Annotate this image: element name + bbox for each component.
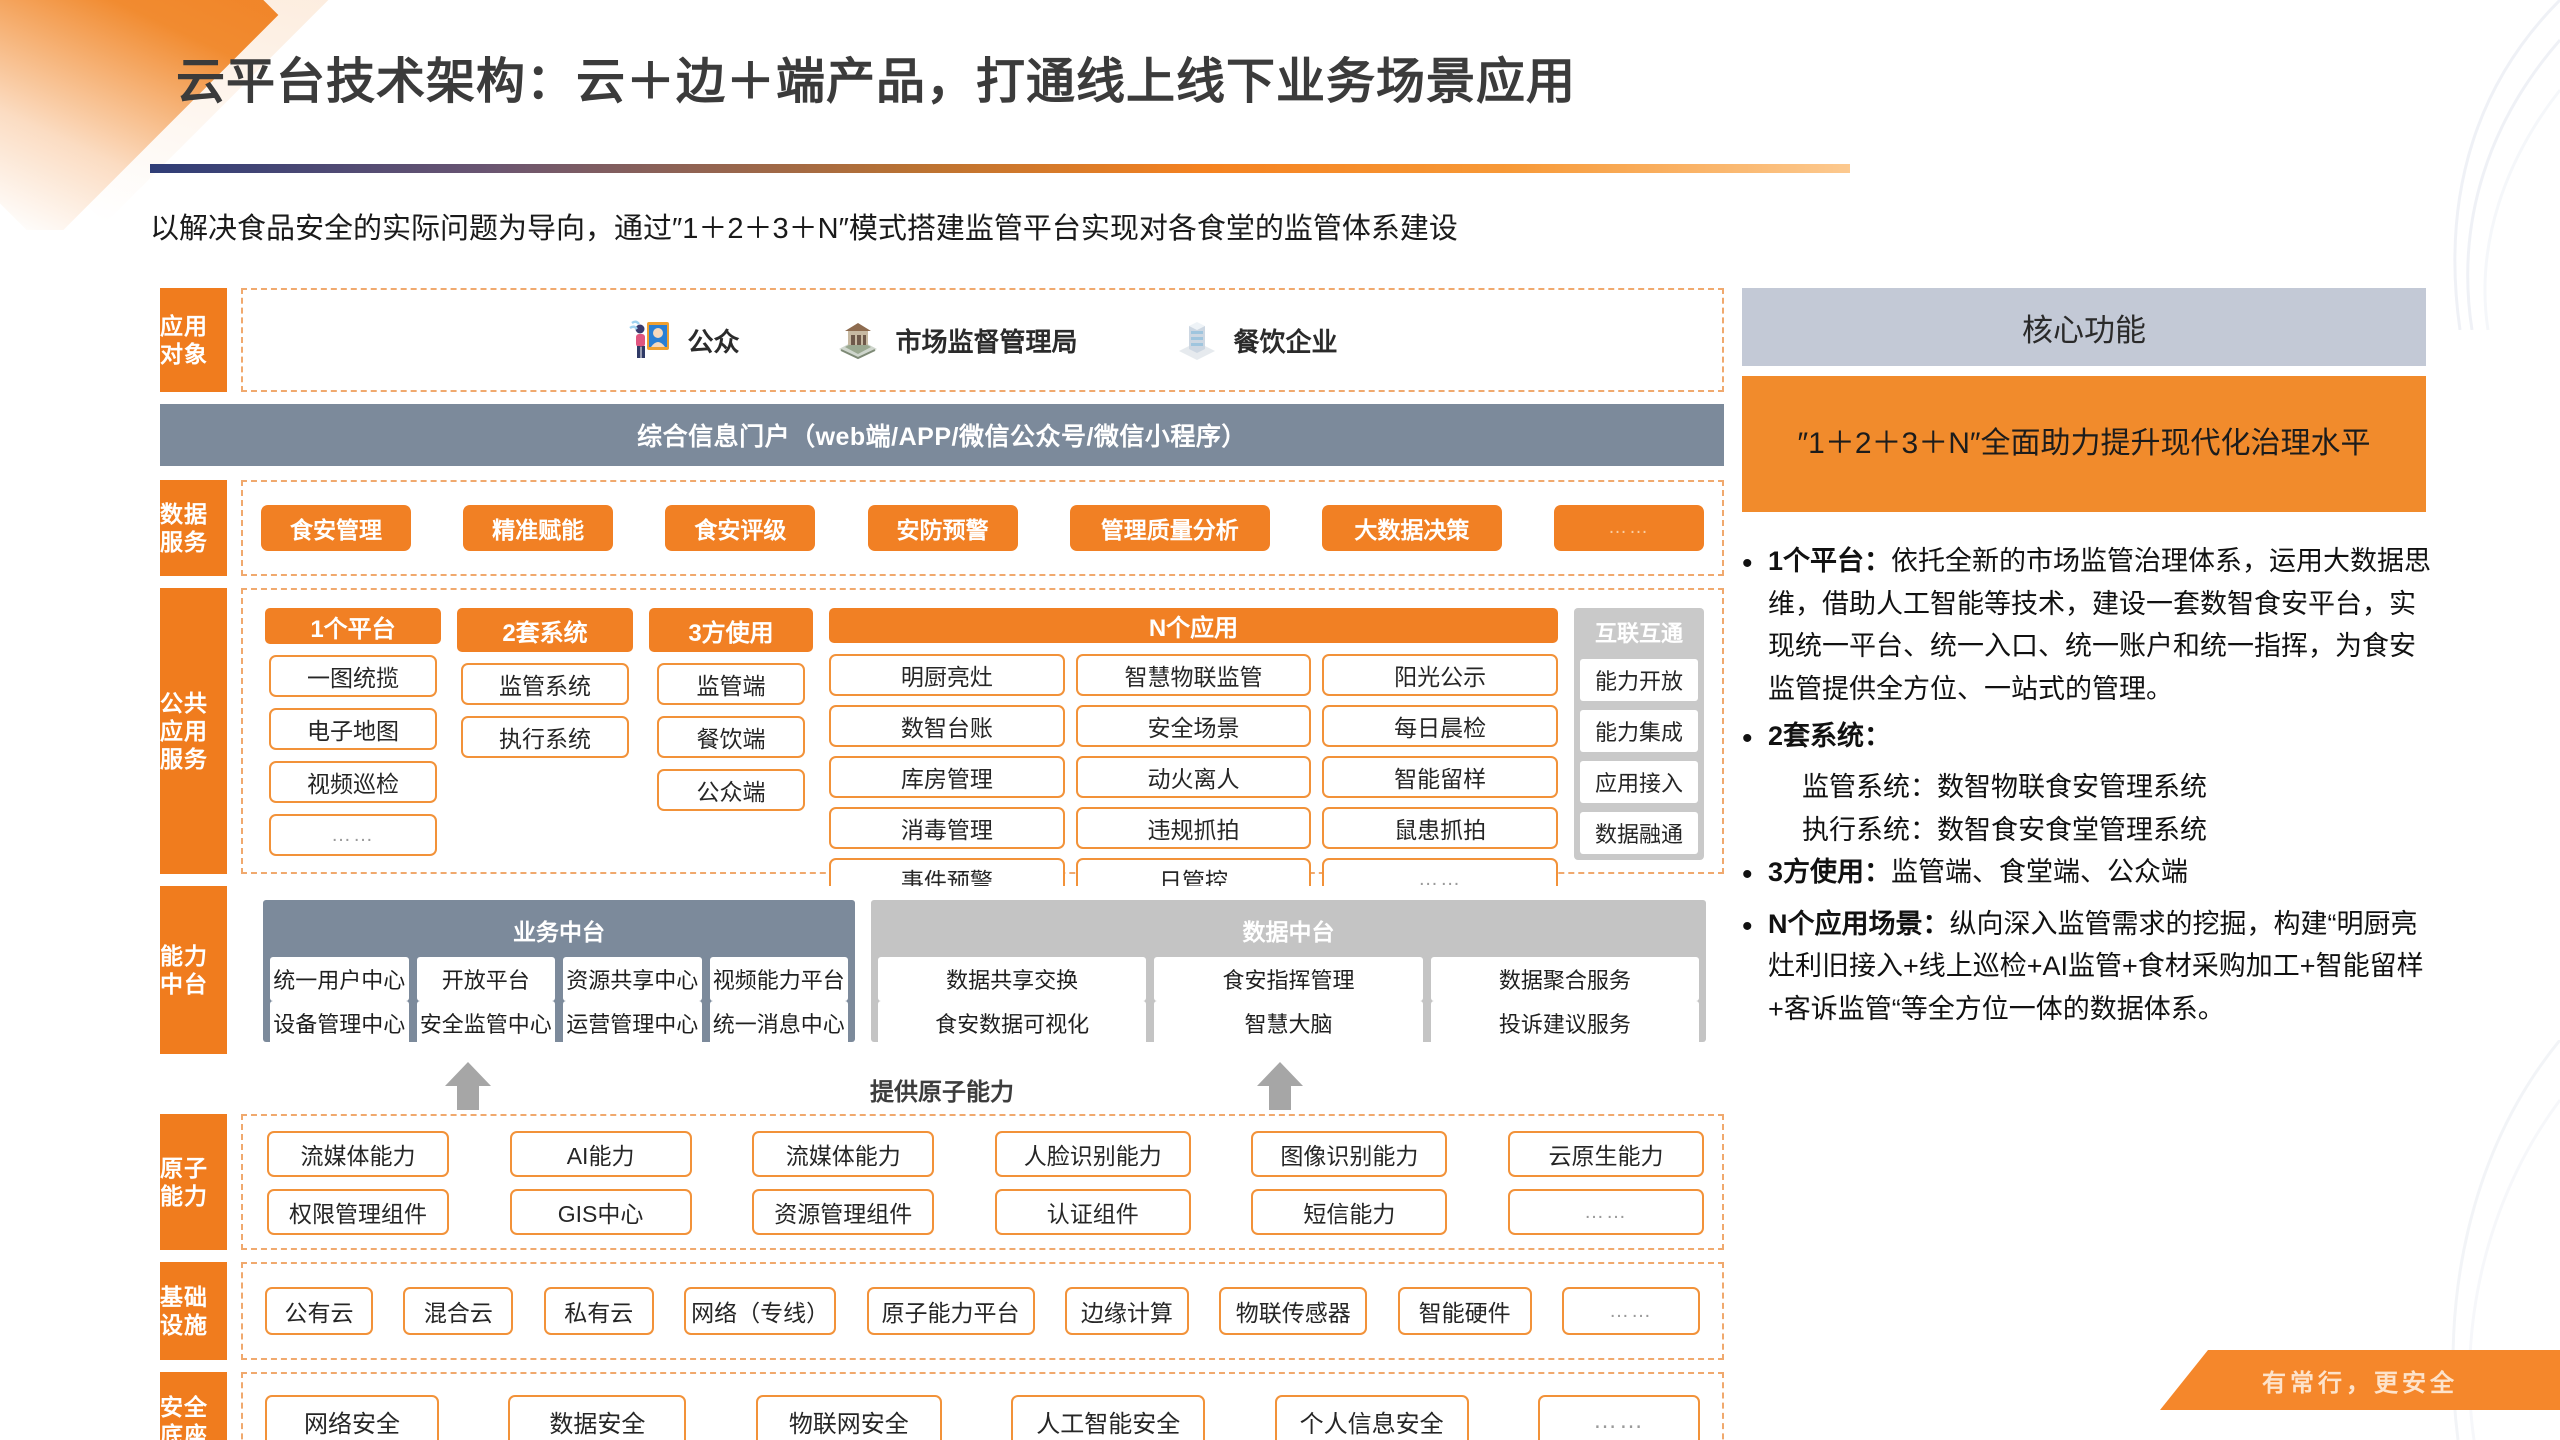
layer-security-base: 安全底座 网络安全数据安全物联网安全人工智能安全个人信息安全…… — [160, 1372, 1724, 1440]
spacer — [1191, 1131, 1252, 1177]
bullet-dot: • — [1742, 903, 1768, 1031]
capability-cell[interactable]: 运营管理中心 — [563, 1001, 702, 1045]
core-functions-banner: ″1＋2＋3＋N″全面助力提升现代化治理水平 — [1742, 376, 2426, 512]
n-app-item[interactable]: 明厨亮灶 — [829, 654, 1065, 696]
n-apps-grid: 明厨亮灶智慧物联监管阳光公示数智台账安全场景每日晨检库房管理动火离人智能留样消毒… — [829, 654, 1558, 900]
interlink-panel: 互联互通 能力开放能力集成应用接入数据融通 — [1574, 608, 1704, 860]
spacer — [1447, 1189, 1508, 1235]
layer-tag-application-objects: 应用对象 — [160, 288, 227, 392]
infrastructure-chip[interactable]: 网络（专线） — [684, 1287, 836, 1335]
pas-item[interactable]: 执行系统 — [461, 716, 629, 758]
page-subtitle: 以解决食品安全的实际问题为导向，通过″1＋2＋3＋N″模式搭建监管平台实现对各食… — [150, 205, 1458, 247]
n-app-item[interactable]: 每日晨检 — [1322, 705, 1558, 747]
spacer — [1447, 1131, 1508, 1177]
app-object-label: 市场监督管理局 — [895, 322, 1077, 359]
security-chip[interactable]: 物联网安全 — [756, 1395, 942, 1440]
data-services-row: 食安管理精准赋能食安评级安防预警管理质量分析大数据决策…… — [243, 482, 1722, 574]
capability-cell[interactable]: 投诉建议服务 — [1431, 1001, 1699, 1045]
atomic-capability-chip[interactable]: 资源管理组件 — [752, 1189, 934, 1235]
block-title: 业务中台 — [270, 907, 848, 957]
bullet-text: 1个平台：依托全新的市场监管治理体系，运用大数据思维，借助人工智能等技术，建设一… — [1768, 540, 2442, 711]
spacer — [1191, 1189, 1252, 1235]
core-function-subline: 监管系统：数智物联食安管理系统 — [1742, 766, 2442, 809]
infrastructure-chip[interactable]: 智能硬件 — [1398, 1287, 1532, 1335]
spacer — [449, 1189, 510, 1235]
data-service-chip[interactable]: 精准赋能 — [463, 505, 613, 551]
atomic-capability-content: 流媒体能力AI能力流媒体能力人脸识别能力图像识别能力云原生能力 权限管理组件GI… — [267, 1132, 1704, 1234]
bullet-text: 3方使用：监管端、食堂端、公众端 — [1768, 851, 2188, 898]
bullet-dot: • — [1742, 851, 1768, 898]
provide-atomic-capability-band: 提供原子能力 — [160, 1058, 1724, 1112]
n-app-item[interactable]: 智能留样 — [1322, 756, 1558, 798]
spacer — [934, 1131, 995, 1177]
pas-column-systems: 2套系统 监管系统执行系统 — [457, 608, 633, 856]
capability-cell[interactable]: 统一用户中心 — [270, 957, 409, 1001]
pas-column-users: 3方使用 监管端餐饮端公众端 — [649, 608, 813, 856]
provide-atomic-capability-label: 提供原子能力 — [160, 1072, 1724, 1107]
layer-data-services: 数据服务 食安管理精准赋能食安评级安防预警管理质量分析大数据决策…… — [160, 480, 1724, 576]
block-title: 数据中台 — [878, 907, 1699, 957]
pas-column-n-apps: N个应用 明厨亮灶智慧物联监管阳光公示数智台账安全场景每日晨检库房管理动火离人智… — [829, 608, 1558, 856]
app-object-market-bureau[interactable]: 市场监督管理局 — [835, 317, 1077, 363]
block-row: 食安数据可视化智慧大脑投诉建议服务 — [878, 1001, 1699, 1045]
bullet-strong: 1个平台： — [1768, 546, 1891, 576]
n-app-item[interactable]: 阳光公示 — [1322, 654, 1558, 696]
atomic-capability-chip[interactable]: 图像识别能力 — [1251, 1131, 1447, 1177]
layer-public-application-services: 公共应用服务 1个平台 一图统揽电子地图视频巡检…… 2套系统 监管系统执行系统… — [160, 588, 1724, 874]
interlink-item[interactable]: 能力开放 — [1580, 659, 1698, 701]
app-object-catering-enterprise[interactable]: 餐饮企业 — [1174, 317, 1338, 363]
n-app-item[interactable]: 智慧物联监管 — [1076, 654, 1312, 696]
app-object-label: 公众 — [687, 322, 739, 359]
atomic-capability-chip[interactable]: 短信能力 — [1251, 1189, 1447, 1235]
bullet-strong: 3方使用： — [1768, 857, 1891, 887]
security-chip[interactable]: 人工智能安全 — [1011, 1395, 1205, 1440]
pas-item[interactable]: …… — [269, 814, 437, 856]
pas-column-items: 监管系统执行系统 — [457, 663, 633, 758]
infrastructure-chip[interactable]: 私有云 — [544, 1287, 654, 1335]
corner-decoration — [0, 0, 330, 230]
pas-item[interactable]: 电子地图 — [269, 708, 437, 750]
data-middle-platform: 数据中台 数据共享交换食安指挥管理数据聚合服务 食安数据可视化智慧大脑投诉建议服… — [871, 900, 1706, 1042]
layer-infrastructure: 基础设施 公有云混合云私有云网络（专线）原子能力平台边缘计算物联传感器智能硬件…… — [160, 1262, 1724, 1360]
core-functions-bullets: •1个平台：依托全新的市场监管治理体系，运用大数据思维，借助人工智能等技术，建设… — [1742, 540, 2442, 1031]
capability-platform-content: 业务中台 统一用户中心开放平台资源共享中心视频能力平台 设备管理中心安全监管中心… — [263, 900, 1706, 1042]
pas-column-head: 1个平台 — [265, 608, 441, 644]
portal-bar[interactable]: 综合信息门户（web端/APP/微信公众号/微信小程序） — [160, 404, 1724, 466]
infrastructure-chip[interactable]: 公有云 — [265, 1287, 373, 1335]
core-function-subline: 执行系统：数智食安食堂管理系统 — [1742, 809, 2442, 852]
pas-item[interactable]: 监管端 — [657, 663, 805, 705]
pas-item[interactable]: 餐饮端 — [657, 716, 805, 758]
infrastructure-chip[interactable]: …… — [1562, 1287, 1700, 1335]
data-service-chip[interactable]: …… — [1554, 505, 1704, 551]
spacer — [692, 1189, 753, 1235]
core-functions-panel: 核心功能 ″1＋2＋3＋N″全面助力提升现代化治理水平 •1个平台：依托全新的市… — [1742, 288, 2462, 1035]
capability-cell[interactable]: 统一消息中心 — [710, 1001, 849, 1045]
government-building-icon — [835, 317, 881, 363]
layer-tag-data-services: 数据服务 — [160, 480, 227, 576]
atomic-capability-chip[interactable]: 人脸识别能力 — [995, 1131, 1191, 1177]
pas-column-items: 监管端餐饮端公众端 — [649, 663, 813, 811]
layer-tag-infrastructure: 基础设施 — [160, 1262, 227, 1360]
data-service-chip[interactable]: 安防预警 — [868, 505, 1018, 551]
data-service-chip[interactable]: 食安评级 — [665, 505, 815, 551]
pas-column-head: N个应用 — [829, 608, 1558, 643]
layer-tag-security-base: 安全底座 — [160, 1372, 227, 1440]
security-chip[interactable]: 网络安全 — [265, 1395, 439, 1440]
pas-column-items: 一图统揽电子地图视频巡检…… — [265, 655, 441, 856]
n-app-item[interactable]: 消毒管理 — [829, 807, 1065, 849]
footer-ribbon: 有常行，更安全 — [2160, 1350, 2560, 1410]
footer-ribbon-text: 有常行，更安全 — [2262, 1363, 2458, 1398]
spacer — [934, 1189, 995, 1235]
security-chip[interactable]: …… — [1538, 1395, 1700, 1440]
pas-item[interactable]: 监管系统 — [461, 663, 629, 705]
layer-tag-public-application-services: 公共应用服务 — [160, 588, 227, 874]
capability-cell[interactable]: 设备管理中心 — [270, 1001, 409, 1045]
business-middle-platform: 业务中台 统一用户中心开放平台资源共享中心视频能力平台 设备管理中心安全监管中心… — [263, 900, 855, 1042]
core-function-bullet: •2套系统： — [1742, 715, 2442, 762]
capability-cell[interactable]: 食安数据可视化 — [878, 1001, 1146, 1045]
atomic-capability-chip[interactable]: …… — [1508, 1189, 1704, 1235]
core-function-bullet: •1个平台：依托全新的市场监管治理体系，运用大数据思维，借助人工智能等技术，建设… — [1742, 540, 2442, 711]
layer-capability-platform: 能力中台 业务中台 统一用户中心开放平台资源共享中心视频能力平台 设备管理中心安… — [160, 886, 1724, 1054]
atomic-capability-chip[interactable]: AI能力 — [510, 1131, 692, 1177]
capability-cell[interactable]: 开放平台 — [417, 957, 556, 1001]
capability-cell[interactable]: 数据共享交换 — [878, 957, 1146, 1001]
spacer — [692, 1131, 753, 1177]
app-object-label: 餐饮企业 — [1234, 322, 1338, 359]
app-object-public[interactable]: 公众 — [627, 317, 739, 363]
title-divider — [150, 164, 1850, 173]
pas-column-head: 3方使用 — [649, 608, 813, 652]
data-service-chip[interactable]: 食安管理 — [261, 505, 411, 551]
atomic-row: 权限管理组件GIS中心资源管理组件认证组件短信能力…… — [267, 1189, 1704, 1235]
bullet-text: N个应用场景：纵向深入监管需求的挖掘，构建“明厨亮灶利旧接入+线上巡检+AI监管… — [1768, 903, 2442, 1031]
atomic-capability-chip[interactable]: 流媒体能力 — [752, 1131, 934, 1177]
public-app-services-content: 1个平台 一图统揽电子地图视频巡检…… 2套系统 监管系统执行系统 3方使用 监… — [265, 608, 1704, 856]
infrastructure-chip[interactable]: 原子能力平台 — [867, 1287, 1035, 1335]
core-functions-header: 核心功能 — [1742, 288, 2426, 366]
pas-item[interactable]: 公众端 — [657, 769, 805, 811]
capability-cell[interactable]: 食安指挥管理 — [1154, 957, 1422, 1001]
atomic-capability-chip[interactable]: 认证组件 — [995, 1189, 1191, 1235]
n-app-item[interactable]: 数智台账 — [829, 705, 1065, 747]
interlink-item[interactable]: 数据融通 — [1580, 812, 1698, 854]
n-app-item[interactable]: 安全场景 — [1076, 705, 1312, 747]
security-chip[interactable]: 个人信息安全 — [1275, 1395, 1469, 1440]
infrastructure-row: 公有云混合云私有云网络（专线）原子能力平台边缘计算物联传感器智能硬件…… — [243, 1264, 1722, 1358]
interlink-item[interactable]: 应用接入 — [1580, 761, 1698, 803]
block-row: 设备管理中心安全监管中心运营管理中心统一消息中心 — [270, 1001, 848, 1045]
infrastructure-chip[interactable]: 混合云 — [403, 1287, 513, 1335]
capability-cell[interactable]: 数据聚合服务 — [1431, 957, 1699, 1001]
bullet-text: 2套系统： — [1768, 715, 1891, 762]
bullet-strong: 2套系统： — [1768, 721, 1891, 751]
bullet-dot: • — [1742, 715, 1768, 762]
infrastructure-chip[interactable]: 物联传感器 — [1219, 1287, 1367, 1335]
portal-label: 综合信息门户（web端/APP/微信公众号/微信小程序） — [637, 417, 1247, 453]
interlink-item[interactable]: 能力集成 — [1580, 710, 1698, 752]
capability-cell[interactable]: 视频能力平台 — [710, 957, 849, 1001]
slide-root: 云平台技术架构：云＋边＋端产品，打通线上线下业务场景应用 以解决食品安全的实际问… — [0, 0, 2560, 1440]
pas-column-platform: 1个平台 一图统揽电子地图视频巡检…… — [265, 608, 441, 856]
bullet-strong: N个应用场景： — [1768, 909, 1950, 939]
block-row: 数据共享交换食安指挥管理数据聚合服务 — [878, 957, 1699, 1001]
infrastructure-chip[interactable]: 边缘计算 — [1065, 1287, 1189, 1335]
atomic-capability-chip[interactable]: GIS中心 — [510, 1189, 692, 1235]
data-service-chip[interactable]: 大数据决策 — [1322, 505, 1502, 551]
pas-column-head: 2套系统 — [457, 608, 633, 652]
atomic-capability-chip[interactable]: 权限管理组件 — [267, 1189, 449, 1235]
security-row: 网络安全数据安全物联网安全人工智能安全个人信息安全…… — [243, 1374, 1722, 1440]
layer-application-objects: 应用对象 — [160, 288, 1724, 392]
spacer — [449, 1131, 510, 1177]
top-right-swoosh-decoration — [2140, 0, 2560, 330]
atomic-capability-chip[interactable]: 云原生能力 — [1508, 1131, 1704, 1177]
interlink-items: 能力开放能力集成应用接入数据融通 — [1580, 659, 1698, 854]
core-function-bullet: •N个应用场景：纵向深入监管需求的挖掘，构建“明厨亮灶利旧接入+线上巡检+AI监… — [1742, 903, 2442, 1031]
block-row: 统一用户中心开放平台资源共享中心视频能力平台 — [270, 957, 848, 1001]
security-chip[interactable]: 数据安全 — [508, 1395, 686, 1440]
bullet-dot: • — [1742, 540, 1768, 711]
enterprise-building-icon — [1174, 317, 1220, 363]
capability-cell[interactable]: 智慧大脑 — [1154, 1001, 1422, 1045]
n-app-item[interactable]: 库房管理 — [829, 756, 1065, 798]
data-service-chip[interactable]: 管理质量分析 — [1070, 505, 1270, 551]
pas-item[interactable]: 视频巡检 — [269, 761, 437, 803]
n-app-item[interactable]: 动火离人 — [1076, 756, 1312, 798]
n-app-item[interactable]: 违规抓拍 — [1076, 807, 1312, 849]
pas-item[interactable]: 一图统揽 — [269, 655, 437, 697]
capability-cell[interactable]: 资源共享中心 — [563, 957, 702, 1001]
public-person-icon — [627, 317, 673, 363]
capability-cell[interactable]: 安全监管中心 — [417, 1001, 556, 1045]
interlink-head: 互联互通 — [1580, 614, 1698, 650]
layer-tag-atomic-capability: 原子能力 — [160, 1114, 227, 1250]
layer-atomic-capability: 原子能力 流媒体能力AI能力流媒体能力人脸识别能力图像识别能力云原生能力 权限管… — [160, 1114, 1724, 1250]
architecture-diagram: 应用对象 — [160, 288, 1724, 1416]
atomic-capability-chip[interactable]: 流媒体能力 — [267, 1131, 449, 1177]
layer-tag-capability-platform: 能力中台 — [160, 886, 227, 1054]
atomic-row: 流媒体能力AI能力流媒体能力人脸识别能力图像识别能力云原生能力 — [267, 1131, 1704, 1177]
core-function-bullet: •3方使用：监管端、食堂端、公众端 — [1742, 851, 2442, 898]
page-title: 云平台技术架构：云＋边＋端产品，打通线上线下业务场景应用 — [176, 42, 1576, 113]
n-app-item[interactable]: 鼠患抓拍 — [1322, 807, 1558, 849]
